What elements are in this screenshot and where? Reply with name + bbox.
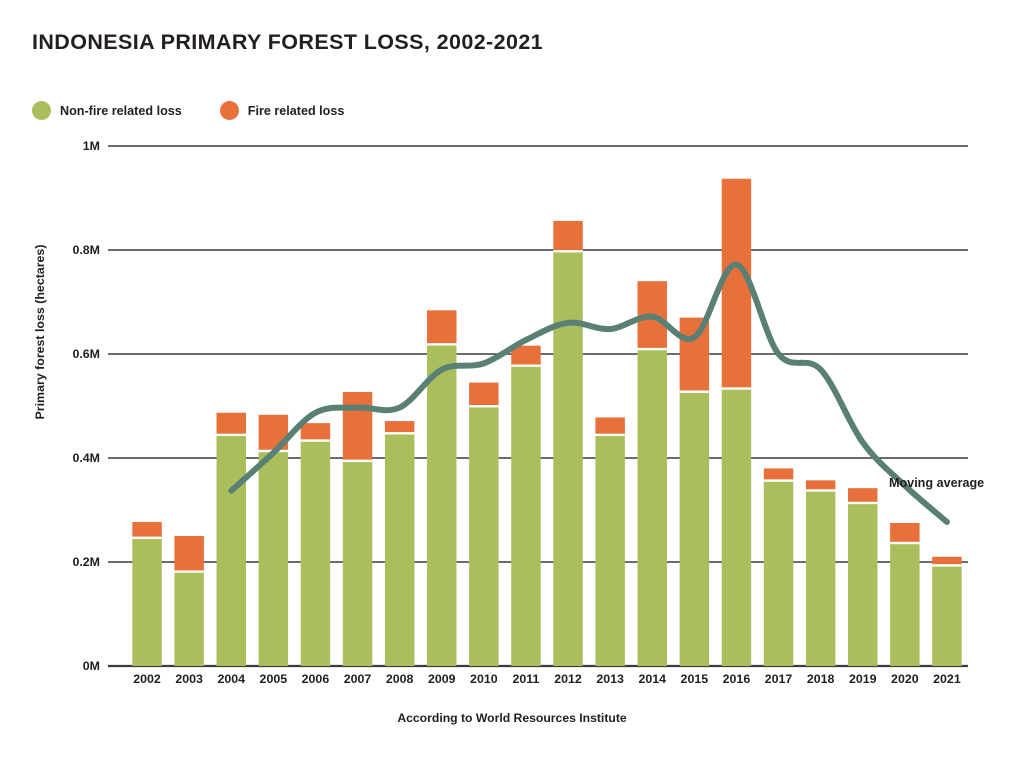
legend-item-fire[interactable]: Fire related loss xyxy=(220,101,345,120)
bar-segment-divider xyxy=(385,432,414,434)
bar-stack[interactable] xyxy=(848,488,877,666)
bar-group xyxy=(132,179,961,666)
bar-segment-non-fire[interactable] xyxy=(680,392,709,666)
bar-segment-divider xyxy=(806,489,835,491)
x-axis-tick-label: 2013 xyxy=(596,672,624,686)
bar-segment-divider xyxy=(553,250,582,252)
bar-segment-fire[interactable] xyxy=(806,480,835,491)
x-axis-tick-label: 2017 xyxy=(765,672,793,686)
bar-segment-non-fire[interactable] xyxy=(890,544,919,666)
bar-stack[interactable] xyxy=(722,179,751,666)
x-axis-tick-label: 2003 xyxy=(175,672,203,686)
bar-stack[interactable] xyxy=(427,310,456,666)
legend-label-fire: Fire related loss xyxy=(248,104,345,118)
y-axis-tick-label: 0.6M xyxy=(40,347,100,361)
x-axis-tick-label: 2011 xyxy=(512,672,539,686)
bar-segment-divider xyxy=(343,460,372,462)
bar-stack[interactable] xyxy=(638,281,667,666)
bar-segment-non-fire[interactable] xyxy=(259,452,288,666)
bar-segment-divider xyxy=(469,405,498,407)
bar-segment-divider xyxy=(680,390,709,392)
bar-segment-non-fire[interactable] xyxy=(595,436,624,666)
x-axis-tick-label: 2009 xyxy=(428,672,456,686)
bar-segment-divider xyxy=(722,387,751,389)
bar-segment-fire[interactable] xyxy=(890,523,919,544)
bar-segment-divider xyxy=(301,439,330,441)
x-axis-tick-label: 2008 xyxy=(386,672,414,686)
source-note: According to World Resources Institute xyxy=(0,711,1024,725)
bar-segment-non-fire[interactable] xyxy=(132,539,161,666)
bar-segment-non-fire[interactable] xyxy=(511,366,540,666)
legend-swatch-non-fire-icon xyxy=(32,101,51,120)
bar-segment-non-fire[interactable] xyxy=(806,491,835,666)
x-axis-tick-label: 2010 xyxy=(470,672,498,686)
bar-stack[interactable] xyxy=(806,480,835,666)
bar-stack[interactable] xyxy=(469,383,498,666)
bar-segment-non-fire[interactable] xyxy=(638,350,667,666)
x-axis-tick-label: 2019 xyxy=(849,672,877,686)
bar-segment-fire[interactable] xyxy=(638,281,667,350)
bar-segment-fire[interactable] xyxy=(174,536,203,572)
bar-segment-divider xyxy=(595,434,624,436)
x-axis-tick-label: 2005 xyxy=(260,672,288,686)
bar-segment-fire[interactable] xyxy=(217,413,246,436)
bar-segment-non-fire[interactable] xyxy=(848,504,877,666)
bar-segment-fire[interactable] xyxy=(343,392,372,462)
bar-segment-non-fire[interactable] xyxy=(174,572,203,666)
y-axis-tick-label: 0.4M xyxy=(40,451,100,465)
chart-title: INDONESIA PRIMARY FOREST LOSS, 2002-2021 xyxy=(32,30,543,55)
bar-segment-fire[interactable] xyxy=(427,310,456,345)
x-axis-tick-label: 2016 xyxy=(723,672,751,686)
bar-segment-non-fire[interactable] xyxy=(932,566,961,666)
bar-segment-fire[interactable] xyxy=(553,221,582,252)
bar-segment-fire[interactable] xyxy=(511,346,540,367)
bar-stack[interactable] xyxy=(764,468,793,666)
bar-segment-non-fire[interactable] xyxy=(217,436,246,666)
bar-segment-non-fire[interactable] xyxy=(385,434,414,666)
bar-segment-divider xyxy=(638,348,667,350)
bar-segment-non-fire[interactable] xyxy=(764,481,793,666)
bar-stack[interactable] xyxy=(680,318,709,666)
bar-segment-divider xyxy=(511,364,540,366)
chart-container: INDONESIA PRIMARY FOREST LOSS, 2002-2021… xyxy=(0,0,1024,758)
moving-average-line[interactable] xyxy=(231,264,947,521)
moving-average-annotation: Moving average xyxy=(889,476,984,490)
bar-stack[interactable] xyxy=(301,423,330,666)
bar-segment-fire[interactable] xyxy=(132,522,161,539)
bar-segment-fire[interactable] xyxy=(848,488,877,504)
bar-segment-fire[interactable] xyxy=(722,179,751,390)
x-axis-tick-label: 2002 xyxy=(133,672,161,686)
bar-segment-fire[interactable] xyxy=(259,415,288,452)
bar-segment-fire[interactable] xyxy=(595,417,624,435)
bar-segment-divider xyxy=(259,450,288,452)
bar-segment-non-fire[interactable] xyxy=(469,407,498,666)
bar-segment-non-fire[interactable] xyxy=(427,345,456,666)
bar-segment-fire[interactable] xyxy=(385,421,414,434)
bar-segment-divider xyxy=(890,542,919,544)
bar-segment-non-fire[interactable] xyxy=(343,462,372,666)
y-axis-tick-label: 0.2M xyxy=(40,555,100,569)
bar-stack[interactable] xyxy=(217,413,246,666)
bar-segment-divider xyxy=(932,564,961,566)
bar-segment-fire[interactable] xyxy=(469,383,498,407)
x-axis-tick-label: 2006 xyxy=(302,672,330,686)
legend-label-non-fire: Non-fire related loss xyxy=(60,104,182,118)
bar-stack[interactable] xyxy=(385,421,414,666)
x-axis-tick-label: 2004 xyxy=(217,672,245,686)
x-axis-tick-label: 2007 xyxy=(344,672,372,686)
x-axis-tick-label: 2012 xyxy=(554,672,582,686)
bar-segment-fire[interactable] xyxy=(680,318,709,393)
bar-stack[interactable] xyxy=(890,523,919,666)
bar-stack[interactable] xyxy=(174,536,203,666)
bar-stack[interactable] xyxy=(932,557,961,666)
bar-stack[interactable] xyxy=(343,392,372,666)
legend-swatch-fire-icon xyxy=(220,101,239,120)
bar-segment-divider xyxy=(764,479,793,481)
y-axis-tick-label: 1M xyxy=(40,139,100,153)
bar-stack[interactable] xyxy=(511,346,540,666)
bar-segment-fire[interactable] xyxy=(764,468,793,481)
bar-segment-divider xyxy=(427,343,456,345)
bar-segment-non-fire[interactable] xyxy=(301,441,330,666)
gridlines xyxy=(108,146,968,666)
x-axis-tick-label: 2021 xyxy=(933,672,961,686)
bar-segment-divider xyxy=(174,570,203,572)
legend-item-non-fire[interactable]: Non-fire related loss xyxy=(32,101,182,120)
y-axis-tick-label: 0.8M xyxy=(40,243,100,257)
bar-segment-non-fire[interactable] xyxy=(553,252,582,666)
bar-stack[interactable] xyxy=(259,415,288,666)
bar-segment-divider xyxy=(848,502,877,504)
x-axis-tick-label: 2015 xyxy=(681,672,709,686)
x-axis-tick-label: 2020 xyxy=(891,672,919,686)
bar-stack[interactable] xyxy=(132,522,161,666)
x-axis-tick-label: 2018 xyxy=(807,672,835,686)
chart-legend: Non-fire related loss Fire related loss xyxy=(32,101,344,120)
bar-segment-fire[interactable] xyxy=(301,423,330,441)
x-axis-tick-label: 2014 xyxy=(638,672,666,686)
y-axis-title: Primary forest loss (hectares) xyxy=(33,182,47,482)
bar-segment-fire[interactable] xyxy=(932,557,961,566)
bar-stack[interactable] xyxy=(553,221,582,666)
bar-segment-divider xyxy=(132,537,161,539)
y-axis-tick-label: 0M xyxy=(40,659,100,673)
bar-stack[interactable] xyxy=(595,417,624,666)
bar-segment-divider xyxy=(217,434,246,436)
bar-segment-non-fire[interactable] xyxy=(722,389,751,666)
